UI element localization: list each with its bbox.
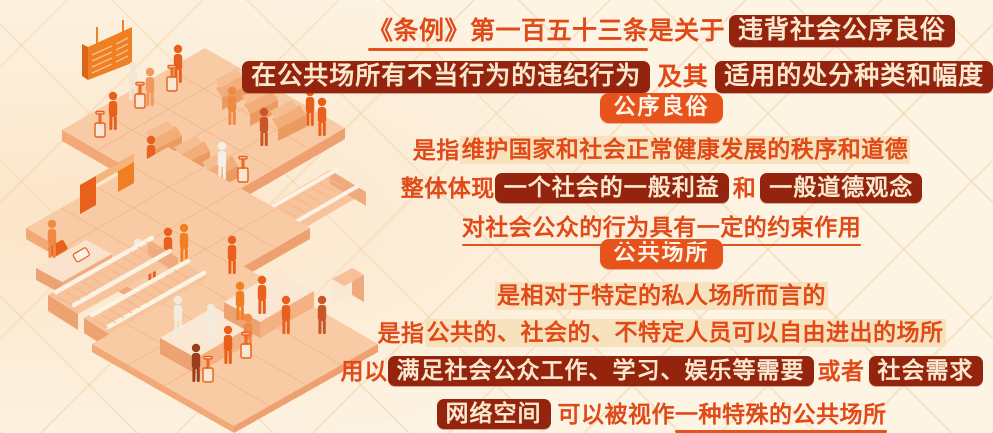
- ggcs-prefix-1: 是指: [378, 322, 425, 345]
- section-public-place: 公共场所 是相对于特定的私人场所而言的 是指 公共的、社会的、不特定人员可以自由…: [338, 239, 985, 429]
- section-header-gongxuliangsu: 公序良俗: [600, 93, 722, 123]
- section-2-header-row: 公序良俗: [600, 93, 722, 123]
- badge-social-demand: 社会需求: [869, 356, 983, 386]
- ggcs-prefix-2: 用以: [341, 360, 388, 383]
- gxls-prefix-2: 整体体现: [401, 177, 495, 200]
- intro-connector-2: 及其: [657, 65, 708, 90]
- ggcs-line-2: 是指 公共的、社会的、不特定人员可以自由进出的场所: [378, 319, 946, 347]
- infographic-canvas: 《条例》第一百五十三条 是关于 违背社会公序良俗 在公共场所有不当行为的违纪行为…: [0, 0, 993, 433]
- gxls-binding-effect: 对社会公众的行为具有一定的约束作用: [462, 216, 862, 239]
- ggcs-highlight-relative-to-private: 是相对于特定的私人场所而言的: [495, 282, 828, 310]
- ggcs-connector: 或者: [818, 360, 865, 383]
- section-public-order-and-morals: 公序良俗 是指 维护国家和社会正常健康发展的秩序和道德 整体体现 一个社会的一般…: [338, 93, 985, 239]
- ggcs-special-public-place: 一种特殊的公共场所: [675, 403, 887, 426]
- badge-cyberspace: 网络空间: [437, 399, 551, 429]
- section-intro: 《条例》第一百五十三条 是关于 违背社会公序良俗 在公共场所有不当行为的违纪行为…: [338, 6, 985, 93]
- gxls-connector: 和: [733, 177, 757, 200]
- ggcs-line-1: 是相对于特定的私人场所而言的: [495, 282, 828, 310]
- ggcs-highlight-free-access: 公共的、社会的、不特定人员可以自由进出的场所: [425, 319, 946, 347]
- intro-connector-1: 是关于: [648, 19, 725, 44]
- ggcs-line-3: 用以 满足社会公众工作、学习、娱乐等需要 或者 社会需求: [341, 356, 983, 386]
- gxls-line-3: 对社会公众的行为具有一定的约束作用: [462, 216, 862, 239]
- badge-work-study-entertainment: 满足社会公众工作、学习、娱乐等需要: [388, 356, 814, 386]
- gxls-prefix-1: 是指: [413, 139, 460, 162]
- badge-general-morality: 一般道德观念: [760, 173, 922, 203]
- ggcs-line-4: 网络空间 可以被视作 一种特殊的公共场所: [437, 399, 887, 429]
- gxls-highlight-definition: 维护国家和社会正常健康发展的秩序和道德: [460, 136, 911, 164]
- ggcs-connector-2: 可以被视作: [558, 403, 676, 426]
- badge-improper-conduct: 在公共场所有不当行为的违纪行为: [242, 61, 650, 93]
- regulation-reference: 《条例》第一百五十三条: [368, 19, 649, 44]
- departure-board-icon: [82, 20, 132, 80]
- badge-general-interest: 一个社会的一般利益: [495, 173, 729, 203]
- intro-line-1: 《条例》第一百五十三条 是关于 违背社会公序良俗: [368, 15, 955, 47]
- gxls-line-2: 整体体现 一个社会的一般利益 和 一般道德观念: [401, 173, 923, 203]
- badge-violate-public-order: 违背社会公序良俗: [729, 15, 955, 47]
- intro-line-2: 在公共场所有不当行为的违纪行为 及其 适用的处分种类和幅度 的 规定: [242, 61, 993, 93]
- gxls-line-1: 是指 维护国家和社会正常健康发展的秩序和道德: [413, 136, 911, 164]
- text-content-column: 《条例》第一百五十三条 是关于 违背社会公序良俗 在公共场所有不当行为的违纪行为…: [330, 0, 993, 433]
- badge-penalty-types: 适用的处分种类和幅度: [715, 61, 993, 93]
